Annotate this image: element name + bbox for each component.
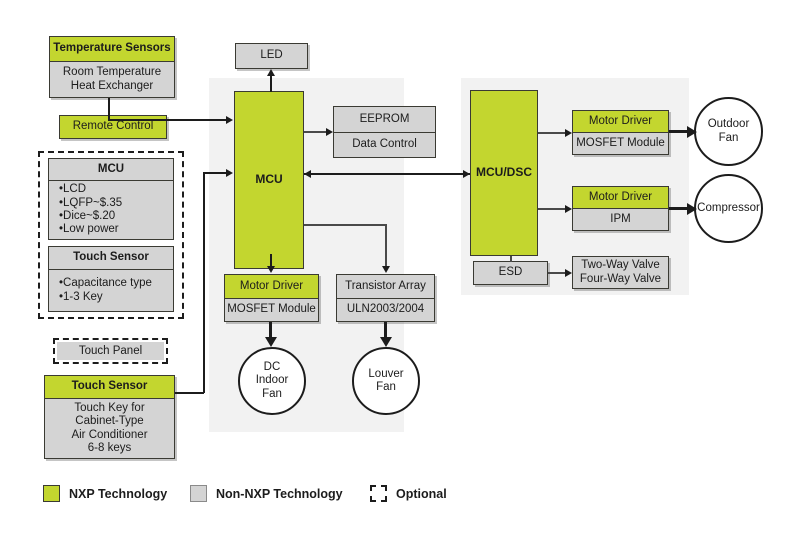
circle-louver-fan[interactable]: Louver Fan	[352, 347, 420, 415]
transistor-array-header: Transistor Array	[337, 275, 434, 298]
block-valves[interactable]: Two-Way Valve Four-Way Valve	[572, 256, 669, 289]
touch-sensor-spec-bullet-1: •1-3 Key	[59, 291, 103, 304]
arrowhead-mcu-to-mcudsc	[463, 170, 470, 178]
mcu-spec-header: MCU	[49, 159, 173, 180]
conn-motordriver-to-outdoorfan	[669, 130, 688, 133]
block-transistor-array[interactable]: Transistor Array ULN2003/2004	[336, 274, 435, 322]
mcu-spec-bullet-3: •Low power	[59, 223, 119, 236]
legend-swatch-nxp-icon	[43, 485, 60, 502]
conn-touchsensor-right	[175, 392, 204, 394]
conn-tempsensors-down	[108, 98, 110, 120]
arrowhead-mcu-to-eeprom	[326, 128, 333, 136]
esd-label: ESD	[474, 262, 547, 284]
dc-indoor-fan-line3: Fan	[262, 388, 282, 400]
arrowhead-esd-to-valves	[565, 269, 572, 277]
arrowhead-transistor-to-louverfan	[380, 337, 392, 347]
arrowhead-motordriver-to-compressor	[687, 203, 697, 215]
touch-sensor-cabinet-line4: 6-8 keys	[88, 442, 131, 455]
motor-driver-indoor-sub: MOSFET Module	[225, 298, 318, 321]
block-mcu-main[interactable]: MCU	[234, 91, 304, 269]
conn-tempsensors-right	[108, 119, 226, 121]
motor-driver-compressor-sub: IPM	[573, 208, 668, 230]
conn-touchsensor-up	[203, 172, 205, 393]
block-mcu-dsc[interactable]: MCU/DSC	[470, 90, 538, 256]
mcu-spec-bullets: •LCD •LQFP~$.35 •Dice~$.20 •Low power	[49, 180, 173, 239]
legend-label-nxp: NXP Technology	[69, 487, 167, 501]
touch-sensor-spec-bullet-0: •Capacitance type	[59, 277, 152, 290]
arrowhead-mcu-to-transistor	[382, 266, 390, 273]
dc-indoor-fan-line1: DC	[264, 361, 281, 373]
arrowhead-mcudsc-to-motordriver-compressor	[565, 205, 572, 213]
conn-mcu-to-mcudsc	[304, 173, 470, 175]
mcu-spec-bullet-2: •Dice~$.20	[59, 210, 115, 223]
block-motor-driver-outdoor[interactable]: Motor Driver MOSFET Module	[572, 110, 669, 155]
motor-driver-outdoor-sub: MOSFET Module	[573, 132, 668, 154]
block-diagram-canvas: Temperature Sensors Room Temperature Hea…	[0, 0, 800, 535]
mcu-main-label: MCU	[235, 92, 303, 268]
block-led[interactable]: LED	[235, 43, 308, 69]
block-esd[interactable]: ESD	[473, 261, 548, 285]
arrowhead-mcu-to-motordriver-indoor	[267, 266, 275, 273]
mcu-dsc-label: MCU/DSC	[471, 91, 537, 255]
led-label: LED	[236, 44, 307, 68]
outdoor-fan-line1: Outdoor	[708, 118, 750, 130]
arrowhead-touchsensor-to-mcu	[226, 169, 233, 177]
touch-sensor-cabinet-line2: Cabinet-Type	[75, 415, 143, 428]
motor-driver-compressor-header: Motor Driver	[573, 187, 668, 208]
conn-motordriver-to-compressor	[669, 207, 688, 210]
conn-esd-to-valves	[548, 272, 565, 274]
legend-item-non-nxp: Non-NXP Technology	[190, 485, 343, 502]
conn-mcu-to-led	[270, 76, 272, 92]
arrowhead-tempsensors-to-mcu	[226, 116, 233, 124]
arrowhead-mcu-to-led	[267, 69, 275, 76]
legend-item-nxp: NXP Technology	[43, 485, 167, 502]
conn-motordriver-to-dcfan	[269, 322, 272, 338]
outdoor-fan-line2: Fan	[719, 132, 739, 144]
temperature-sensors-line2: Heat Exchanger	[71, 80, 153, 93]
temperature-sensors-header: Temperature Sensors	[50, 37, 174, 61]
conn-transistor-to-louverfan	[384, 322, 387, 338]
mcu-spec-bullet-0: •LCD	[59, 183, 86, 196]
block-motor-driver-compressor[interactable]: Motor Driver IPM	[572, 186, 669, 231]
louver-fan-line2: Fan	[376, 381, 396, 393]
mcu-spec-bullet-1: •LQFP~$.35	[59, 197, 122, 210]
legend-item-optional: Optional	[370, 485, 447, 502]
block-touch-sensor-spec[interactable]: Touch Sensor •Capacitance type •1-3 Key	[48, 246, 174, 312]
conn-touchsensor-to-mcu	[203, 172, 226, 174]
motor-driver-outdoor-header: Motor Driver	[573, 111, 668, 132]
touch-panel-label: Touch Panel	[79, 345, 142, 357]
block-touch-sensor-cabinet[interactable]: Touch Sensor Touch Key for Cabinet-Type …	[44, 375, 175, 459]
motor-driver-indoor-header: Motor Driver	[225, 275, 318, 298]
touch-sensor-cabinet-header: Touch Sensor	[45, 376, 174, 398]
conn-mcudsc-to-motordriver-compressor	[538, 208, 565, 210]
valves-line1: Two-Way Valve	[581, 259, 660, 272]
transistor-array-sub: ULN2003/2004	[337, 298, 434, 321]
dc-indoor-fan-line2: Indoor	[256, 374, 289, 386]
touch-sensor-cabinet-body: Touch Key for Cabinet-Type Air Condition…	[45, 398, 174, 458]
conn-mcu-transistor-right	[304, 224, 386, 226]
legend-label-optional: Optional	[396, 487, 447, 501]
legend-label-non-nxp: Non-NXP Technology	[216, 487, 343, 501]
arrowhead-mcudsc-to-motordriver-outdoor	[565, 129, 572, 137]
block-mcu-spec[interactable]: MCU •LCD •LQFP~$.35 •Dice~$.20 •Low powe…	[48, 158, 174, 240]
valves-line2: Four-Way Valve	[580, 273, 661, 286]
compressor-label: Compressor	[697, 202, 760, 215]
louver-fan-line1: Louver	[368, 368, 403, 380]
block-eeprom[interactable]: EEPROM Data Control	[333, 106, 436, 158]
valves-body: Two-Way Valve Four-Way Valve	[573, 257, 668, 288]
circle-outdoor-fan[interactable]: Outdoor Fan	[694, 97, 763, 166]
legend-swatch-optional-icon	[370, 485, 387, 502]
touch-sensor-cabinet-line3: Air Conditioner	[71, 429, 147, 442]
arrowhead-motordriver-to-dcfan	[265, 337, 277, 347]
legend-swatch-non-nxp-icon	[190, 485, 207, 502]
temperature-sensors-body: Room Temperature Heat Exchanger	[50, 61, 174, 97]
circle-compressor[interactable]: Compressor	[694, 174, 763, 243]
touch-sensor-spec-header: Touch Sensor	[49, 247, 173, 269]
block-touch-panel[interactable]: Touch Panel	[57, 342, 164, 360]
conn-mcu-to-eeprom	[304, 131, 326, 133]
touch-sensor-spec-bullets: •Capacitance type •1-3 Key	[49, 269, 173, 311]
conn-mcudsc-to-esd	[510, 256, 512, 262]
arrowhead-motordriver-to-outdoorfan	[687, 126, 697, 138]
eeprom-sub: Data Control	[334, 132, 435, 157]
touch-sensor-cabinet-line1: Touch Key for	[74, 402, 144, 415]
block-motor-driver-indoor[interactable]: Motor Driver MOSFET Module	[224, 274, 319, 322]
arrowhead-mcudsc-to-mcu	[304, 170, 311, 178]
circle-dc-indoor-fan[interactable]: DC Indoor Fan	[238, 347, 306, 415]
block-temperature-sensors[interactable]: Temperature Sensors Room Temperature Hea…	[49, 36, 175, 98]
conn-mcu-transistor-down	[385, 224, 387, 266]
eeprom-header: EEPROM	[334, 107, 435, 132]
conn-mcudsc-to-motordriver-outdoor	[538, 132, 565, 134]
temperature-sensors-line1: Room Temperature	[63, 66, 161, 79]
